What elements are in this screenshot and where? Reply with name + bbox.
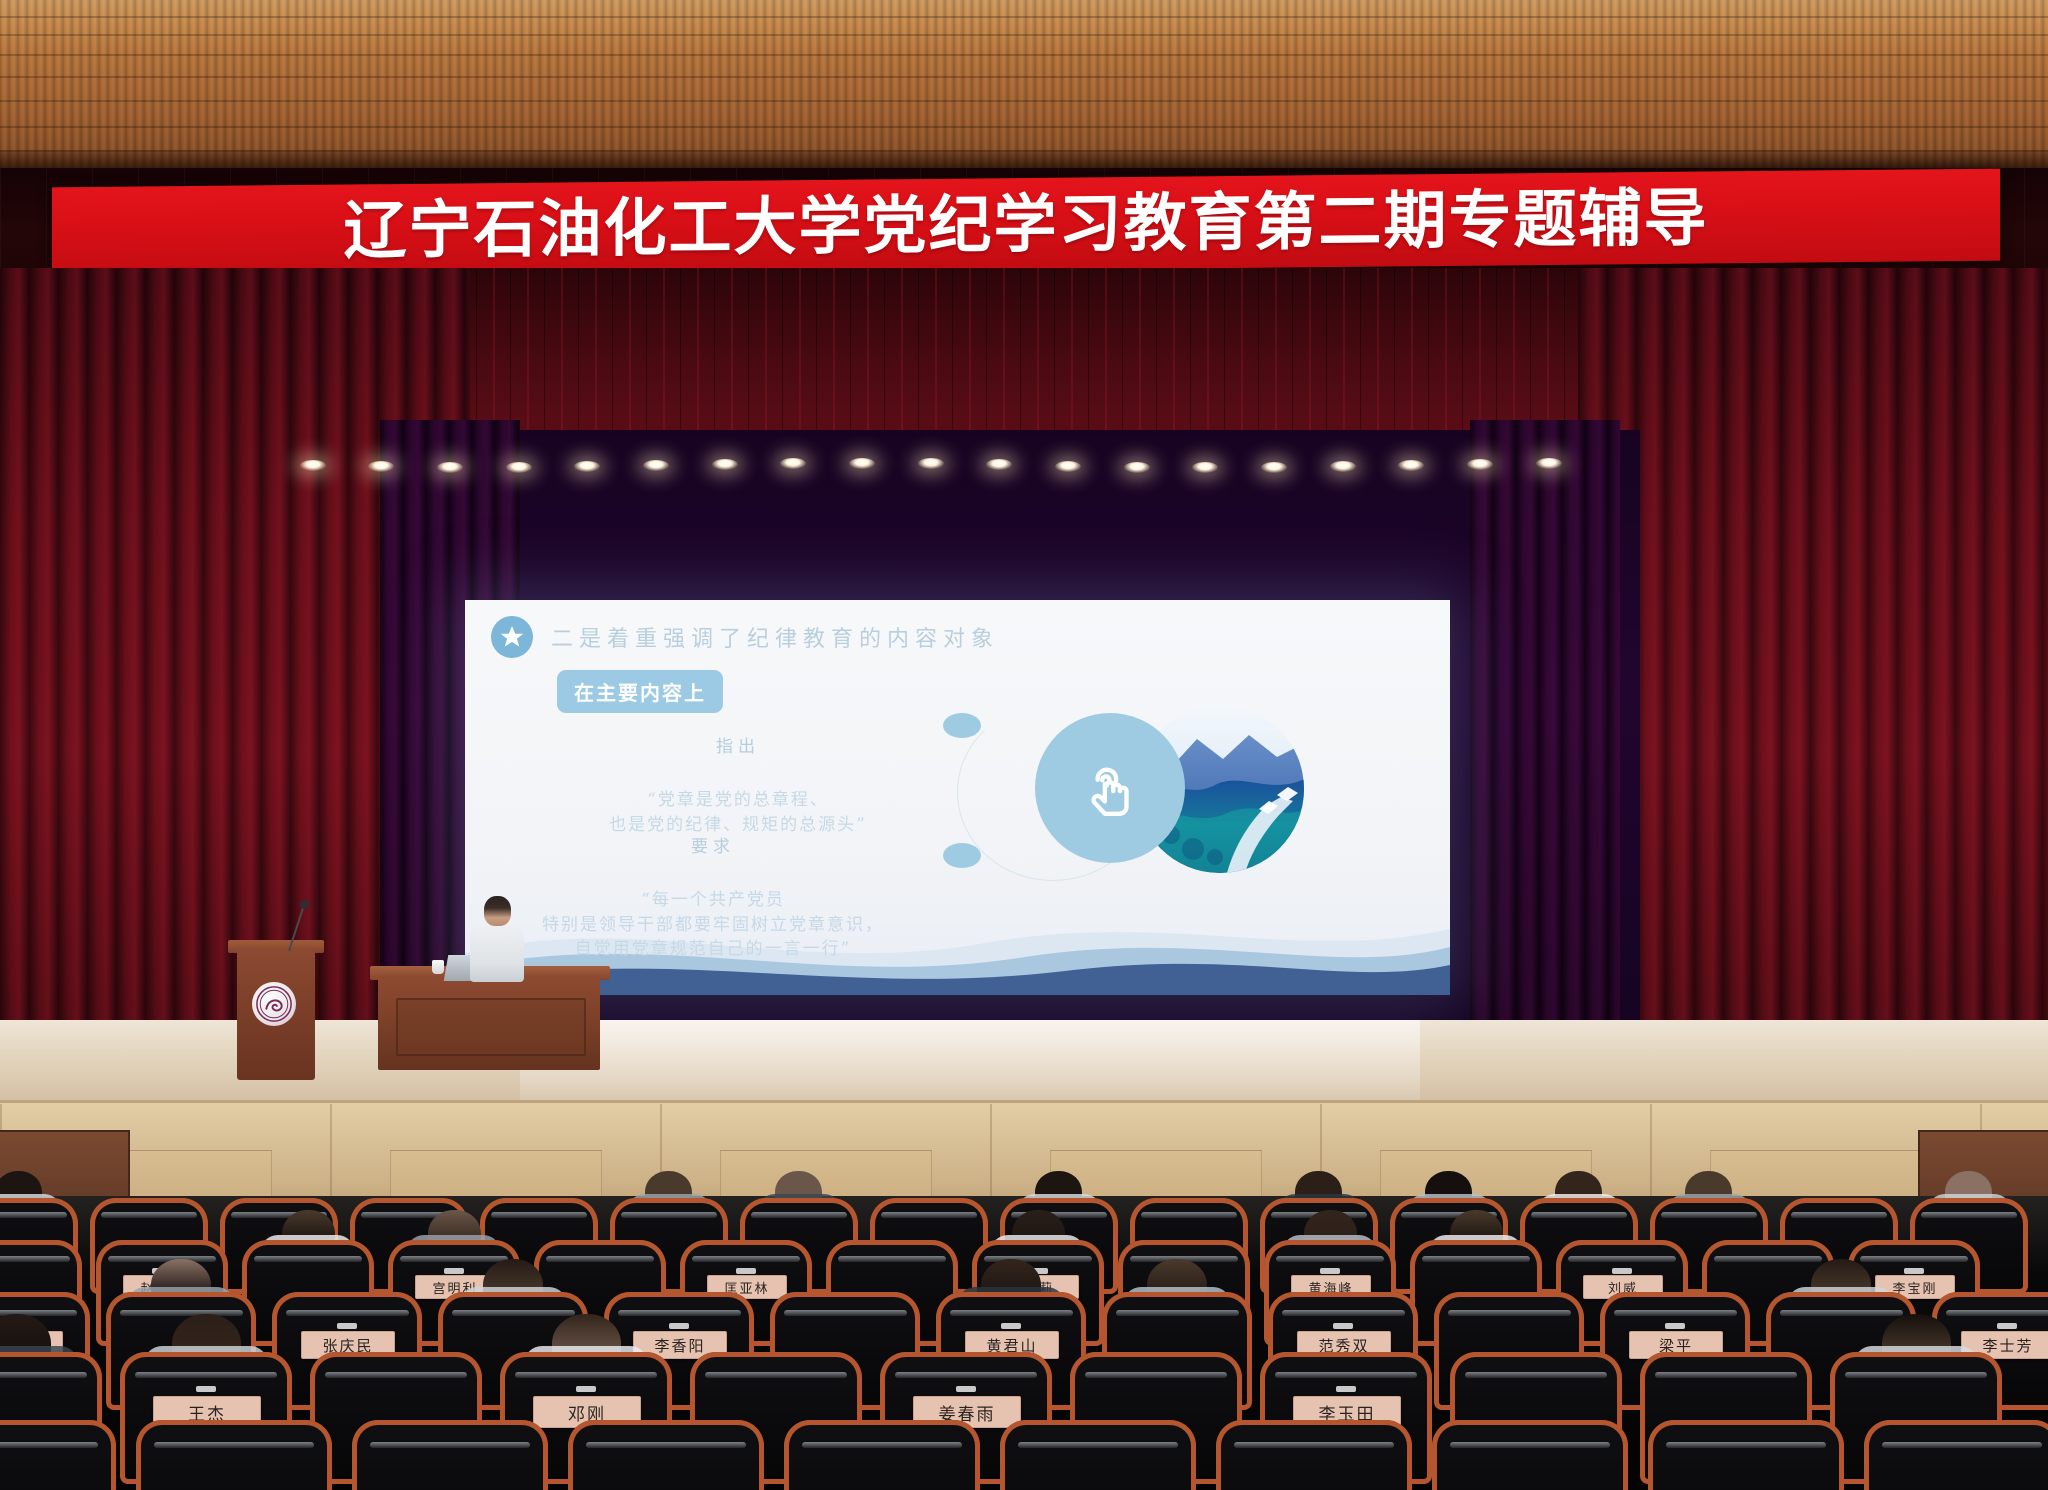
auditorium-seat[interactable]	[1648, 1420, 1844, 1490]
stage-light	[780, 458, 806, 469]
name-tag-clip	[1904, 1268, 1924, 1274]
name-tag-clip	[196, 1386, 216, 1392]
connector-dot-bottom	[943, 843, 981, 868]
slide-surface: 二是着重强调了纪律教育的内容对象 在主要内容上 指出 “党章是党的总章程、 也是…	[465, 600, 1450, 995]
stage-light	[1536, 458, 1562, 469]
stage-light	[1398, 460, 1424, 471]
stage-light	[643, 460, 669, 471]
name-tag-clip	[444, 1268, 464, 1274]
quote-label-2: 要求	[493, 835, 933, 860]
ceiling-slat	[0, 54, 2048, 56]
slide-title: 二是着重强调了纪律教育的内容对象	[551, 621, 999, 653]
event-banner: 辽宁石油化工大学党纪学习教育第二期专题辅导	[52, 169, 2000, 280]
ceiling-slat	[0, 76, 2048, 78]
name-tag-clip	[1336, 1386, 1356, 1392]
name-tag-clip	[1665, 1323, 1685, 1329]
slide-graphic	[935, 695, 1365, 895]
stage-light	[1192, 462, 1218, 473]
auditorium-seat[interactable]	[1864, 1420, 2048, 1490]
slide-quote-block-2: 要求 “每一个共产党员 特别是领导干部都要牢固树立党章意识， 自觉用党章规范自己…	[493, 812, 933, 985]
ceiling-slat	[0, 34, 2048, 36]
screenshot-root: 辽宁石油化工大学党纪学习教育第二期专题辅导 二是着重强调了纪律教育的内容对象	[0, 0, 2048, 1490]
connector-dot-top	[943, 713, 981, 738]
stage-light	[1055, 461, 1081, 472]
stage-light	[1467, 459, 1493, 470]
auditorium-seat[interactable]	[352, 1420, 548, 1490]
auditorium-seat[interactable]	[1216, 1420, 1412, 1490]
stage-light	[574, 461, 600, 472]
stage-light	[437, 462, 463, 473]
name-tag-clip	[576, 1386, 596, 1392]
auditorium-seat[interactable]	[784, 1420, 980, 1490]
auditorium-seat[interactable]	[0, 1420, 116, 1490]
name-tag-clip	[1997, 1323, 2017, 1329]
stage-light	[368, 461, 394, 472]
speaker-head	[484, 896, 511, 926]
click-circle	[1035, 713, 1185, 863]
stage-light	[918, 458, 944, 469]
speaker-person	[470, 920, 524, 982]
stage-light	[986, 459, 1012, 470]
ceiling-slat	[0, 126, 2048, 128]
auditorium-seat[interactable]	[568, 1420, 764, 1490]
stage-light	[506, 462, 532, 473]
auditorium-seat[interactable]	[136, 1420, 332, 1490]
name-tag-clip	[1333, 1323, 1353, 1329]
ceiling-slat	[0, 16, 2048, 18]
stage-light	[1261, 462, 1287, 473]
banner-title: 辽宁石油化工大学党纪学习教育第二期专题辅导	[344, 186, 1709, 262]
quote-body-2: “每一个共产党员 特别是领导干部都要牢固树立党章意识， 自觉用党章规范自己的一言…	[493, 888, 933, 962]
name-tag-clip	[1612, 1268, 1632, 1274]
name-tag-clip	[337, 1323, 357, 1329]
stage-curtain-right	[1578, 268, 2048, 1103]
stage-light	[712, 459, 738, 470]
water-cup	[432, 960, 444, 974]
slide-section-badge: 在主要内容上	[557, 670, 723, 713]
university-emblem	[252, 982, 296, 1026]
stage-light	[300, 460, 326, 471]
stage-light	[1330, 461, 1356, 472]
name-tag-clip	[736, 1268, 756, 1274]
stage-light	[1124, 462, 1150, 473]
speaker-table-panel	[396, 998, 586, 1056]
name-tag-clip	[1001, 1323, 1021, 1329]
auditorium-seat[interactable]	[1000, 1420, 1196, 1490]
stage-curtain-inner-right	[1470, 420, 1620, 1060]
stage-edge	[0, 1100, 2048, 1103]
slide-header: 二是着重强调了纪律教育的内容对象	[491, 616, 999, 658]
auditorium-seat[interactable]	[1432, 1420, 1628, 1490]
projection-screen: 二是着重强调了纪律教育的内容对象 在主要内容上 指出 “党章是党的总章程、 也是…	[465, 600, 1450, 995]
quote-label-1: 指出	[573, 735, 903, 760]
name-tag-clip	[669, 1323, 689, 1329]
star-icon	[491, 616, 533, 658]
name-tag-clip	[1320, 1268, 1340, 1274]
microphone-icon	[300, 900, 309, 909]
ceiling-slat	[0, 100, 2048, 102]
pointing-hand-cursor-icon	[1077, 755, 1143, 821]
stage-light	[849, 458, 875, 469]
name-tag-clip	[956, 1386, 976, 1392]
